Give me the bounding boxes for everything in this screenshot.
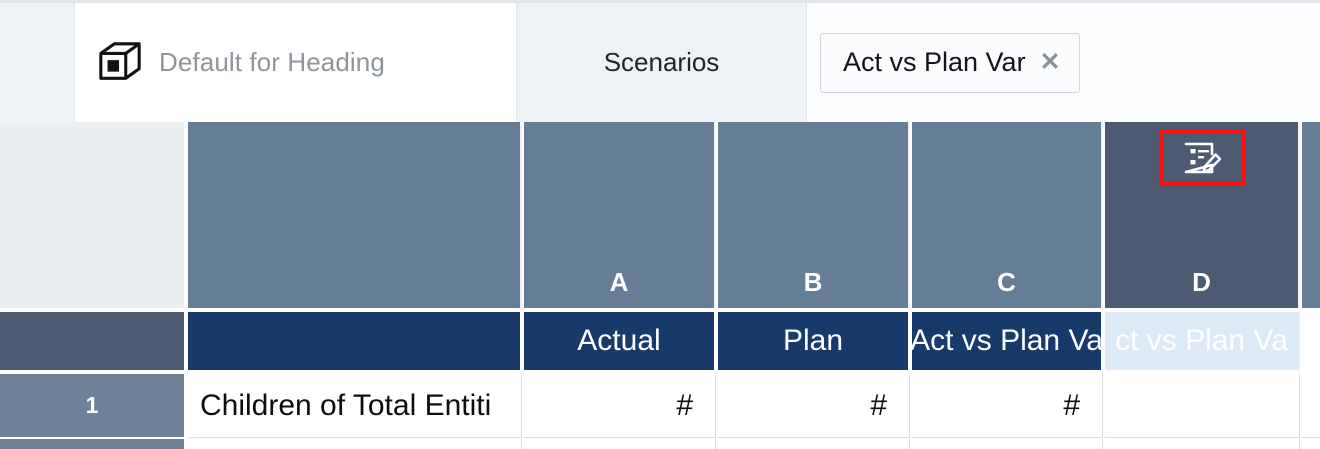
tab-scenarios-label: Scenarios — [604, 47, 720, 78]
scenario-cell-plan[interactable]: Plan — [718, 312, 910, 372]
tab-scenarios[interactable]: Scenarios — [517, 3, 807, 122]
scenario-cell-e[interactable] — [1302, 312, 1320, 372]
column-header-e[interactable] — [1302, 122, 1320, 310]
cell-row1-b[interactable]: # — [718, 374, 910, 438]
pov-cell[interactable]: Default for Heading — [75, 3, 517, 122]
scenario-cell-drag-ghost[interactable]: ct vs Plan Va — [1105, 312, 1300, 372]
member-chip-label: Act vs Plan Var — [843, 47, 1026, 78]
column-header-a[interactable]: A — [524, 122, 716, 310]
cell-row2-label[interactable] — [188, 439, 522, 449]
scenario-row-gutter — [0, 312, 186, 372]
member-selection-zone[interactable]: Act vs Plan Var ✕ — [807, 3, 1320, 122]
cell-row2-a[interactable] — [524, 439, 716, 449]
pov-tab-bar: Default for Heading Scenarios Act vs Pla… — [0, 0, 1320, 122]
row-2-partial — [0, 439, 1320, 449]
cell-row2-e[interactable] — [1302, 439, 1320, 449]
column-header-c[interactable]: C — [912, 122, 1103, 310]
cube-icon — [97, 40, 143, 86]
scenario-cell-act-vs-plan-var[interactable]: Act vs Plan Va — [912, 312, 1103, 372]
cell-row1-a[interactable]: # — [524, 374, 716, 438]
cell-row2-c[interactable] — [912, 439, 1103, 449]
cell-row1-label[interactable]: Children of Total Entiti — [188, 374, 522, 438]
cell-row2-d[interactable] — [1105, 439, 1300, 449]
cell-row1-c[interactable]: # — [912, 374, 1103, 438]
spreadsheet-grid: 1 A B C D Actual Plan Act vs Plan Va ct … — [0, 122, 1320, 449]
cell-row1-e[interactable] — [1302, 374, 1320, 438]
scenario-cell-actual[interactable]: Actual — [524, 312, 716, 372]
grid-dimension-editor: Default for Heading Scenarios Act vs Pla… — [0, 0, 1320, 449]
topbar-gutter — [0, 3, 75, 122]
cell-row1-d[interactable] — [1105, 374, 1300, 438]
cell-row2-b[interactable] — [718, 439, 910, 449]
row-header-1[interactable]: 1 — [0, 374, 186, 438]
member-chip-act-vs-plan-var[interactable]: Act vs Plan Var ✕ — [820, 33, 1080, 93]
pov-label: Default for Heading — [159, 47, 385, 78]
scenario-row-label[interactable] — [188, 312, 522, 372]
row-header-2[interactable] — [0, 439, 186, 449]
column-header-label[interactable] — [188, 122, 522, 310]
grid-corner — [0, 122, 186, 310]
edit-form-icon[interactable] — [1182, 141, 1222, 175]
close-icon[interactable]: ✕ — [1040, 50, 1061, 75]
column-header-b[interactable]: B — [718, 122, 910, 310]
